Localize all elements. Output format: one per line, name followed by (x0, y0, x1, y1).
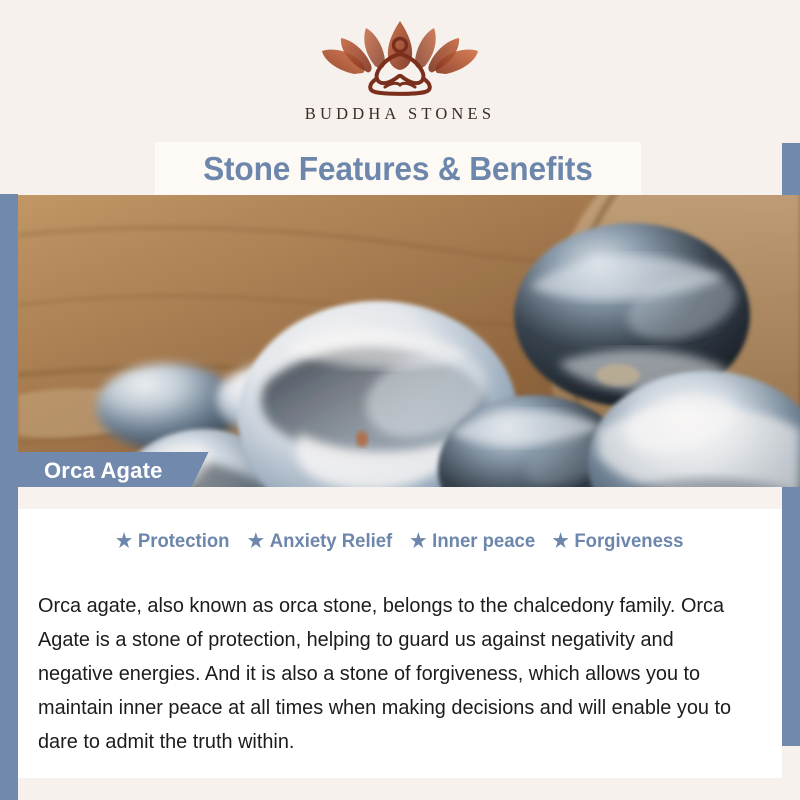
description-text: Orca agate, also known as orca stone, be… (38, 589, 742, 759)
brand-logo: BUDDHA STONES (0, 14, 800, 124)
page-title: Stone Features & Benefits (203, 150, 593, 188)
stone-name-label: Orca Agate (44, 458, 163, 484)
benefit-item-protection: ★ Protection (116, 530, 230, 553)
benefit-item-inner-peace: ★ Inner peace (410, 530, 535, 553)
benefit-item-forgiveness: ★ Forgiveness (552, 530, 683, 553)
header: BUDDHA STONES (0, 0, 800, 143)
stone-name-tab: Orca Agate (18, 452, 209, 489)
brand-name: BUDDHA STONES (0, 104, 800, 124)
benefit-label: Anxiety Relief (269, 530, 392, 553)
benefit-label: Forgiveness (574, 530, 683, 553)
star-icon: ★ (410, 532, 426, 551)
star-icon: ★ (247, 532, 263, 551)
benefit-label: Protection (138, 530, 230, 553)
lotus-meditation-figure-icon (315, 14, 485, 96)
star-icon: ★ (116, 532, 132, 551)
benefit-item-anxiety-relief: ★ Anxiety Relief (247, 530, 391, 553)
infographic-page: BUDDHA STONES Stone Features & Benefits (0, 0, 800, 800)
benefits-row: ★ Protection ★ Anxiety Relief ★ Inner pe… (18, 530, 782, 553)
frame-left-border (0, 194, 18, 800)
panel-top-strip (18, 487, 782, 509)
benefit-label: Inner peace (432, 530, 535, 553)
star-icon: ★ (552, 532, 568, 551)
stone-photo (18, 195, 800, 487)
title-banner: Stone Features & Benefits (155, 142, 641, 195)
